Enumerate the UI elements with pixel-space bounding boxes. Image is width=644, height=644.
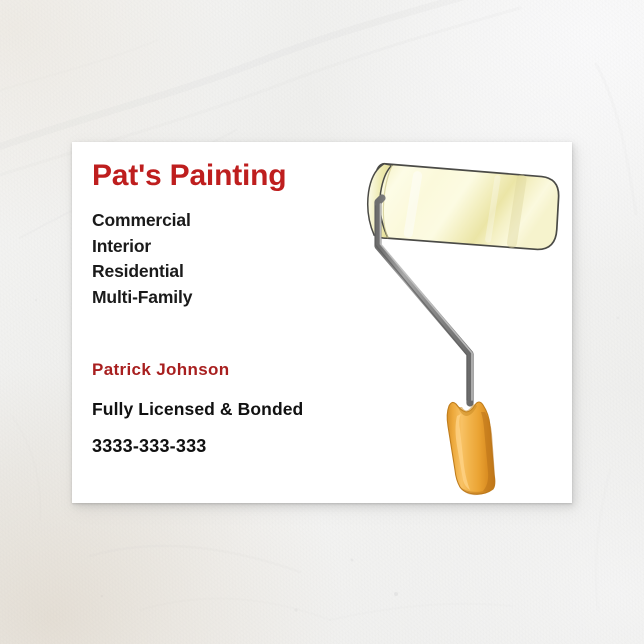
contact-block: Patrick Johnson Fully Licensed & Bonded … [92,360,364,457]
paint-roller-icon [344,150,572,500]
service-item: Residential [92,259,364,284]
roller-nap [372,163,560,250]
phone-number: 3333-333-333 [92,436,364,457]
service-item: Multi-Family [92,285,364,310]
card-text-column: Pat's Painting Commercial Interior Resid… [92,160,364,457]
license-statement: Fully Licensed & Bonded [92,399,364,420]
services-list: Commercial Interior Residential Multi-Fa… [92,208,364,310]
company-name: Pat's Painting [92,160,364,192]
contact-name: Patrick Johnson [92,360,364,380]
business-card: Pat's Painting Commercial Interior Resid… [72,142,572,503]
service-item: Commercial [92,208,364,233]
service-item: Interior [92,234,364,259]
